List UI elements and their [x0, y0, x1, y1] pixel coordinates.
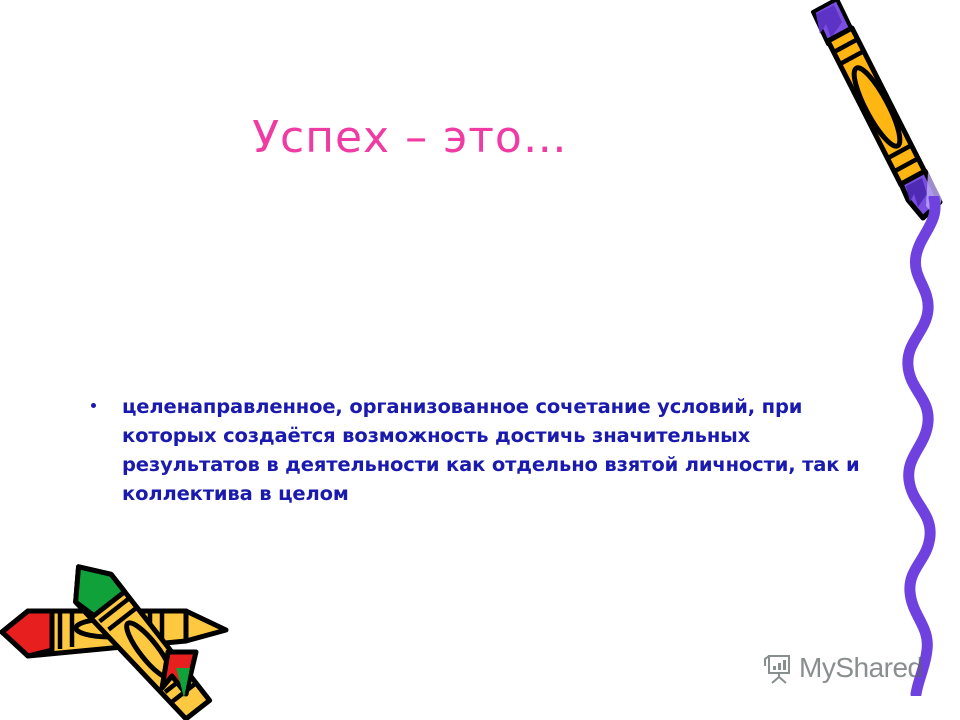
list-item: переживание состояния радости, удовлетво… [0, 486, 960, 626]
presentation-chart-icon [762, 652, 792, 684]
list-item: целенаправленное, организованное сочетан… [0, 196, 960, 326]
list-item: оптимальное соотношение между ожиданиями… [0, 384, 960, 474]
watermark-label: MyShared [799, 652, 923, 684]
page-title: Успех – это… [0, 112, 820, 163]
watermark: MyShared [762, 652, 923, 684]
slide-canvas: Успех – это… целенаправленное, организов… [0, 0, 960, 720]
